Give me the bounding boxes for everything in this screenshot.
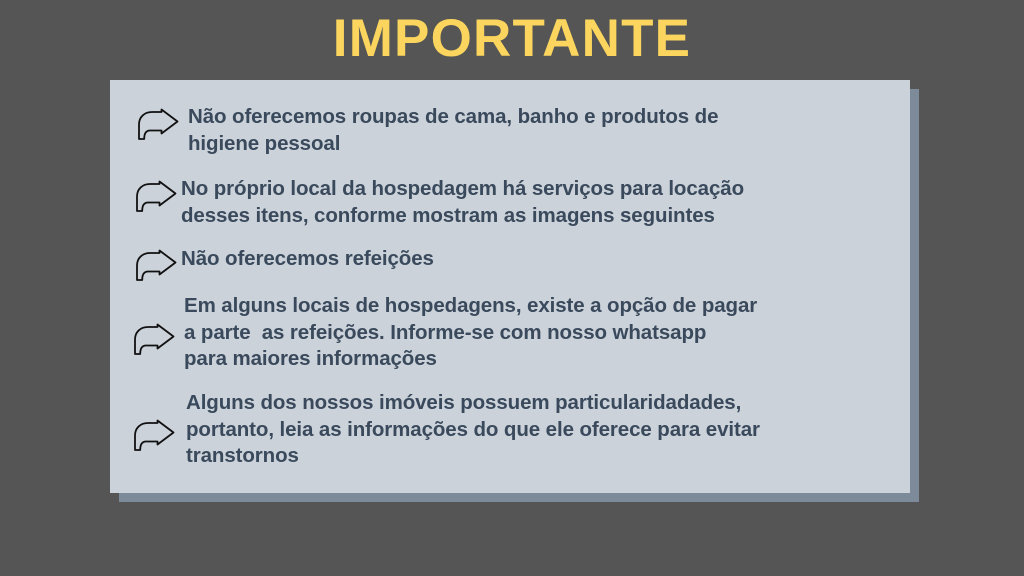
- curved-block-arrow-right-icon: [134, 249, 178, 283]
- list-item-label: Não oferecemos refeições: [181, 246, 896, 273]
- curved-block-arrow-right-icon: [132, 323, 176, 357]
- list-item: Não oferecemos refeições: [134, 246, 896, 283]
- page-title: IMPORTANTE: [0, 12, 1024, 65]
- list-item: No próprio local da hospedagem há serviç…: [134, 176, 896, 229]
- bullet-list: Não oferecemos roupas de cama, banho e p…: [110, 80, 910, 493]
- curved-block-arrow-right-icon: [132, 419, 176, 453]
- list-item-label: No próprio local da hospedagem há serviç…: [181, 176, 896, 229]
- curved-block-arrow-right-icon: [134, 180, 178, 214]
- list-item-label: Em alguns locais de hospedagens, existe …: [184, 293, 898, 373]
- list-item: Não oferecemos roupas de cama, banho e p…: [136, 104, 898, 157]
- curved-block-arrow-right-icon: [136, 108, 180, 142]
- list-item: Alguns dos nossos imóveis possuem partic…: [132, 390, 898, 470]
- list-item-label: Não oferecemos roupas de cama, banho e p…: [188, 104, 898, 157]
- list-item-label: Alguns dos nossos imóveis possuem partic…: [186, 390, 898, 470]
- content-panel: Não oferecemos roupas de cama, banho e p…: [110, 80, 910, 493]
- list-item: Em alguns locais de hospedagens, existe …: [132, 293, 898, 373]
- slide-canvas: IMPORTANTE Não oferecemos roupas de cama…: [0, 0, 1024, 576]
